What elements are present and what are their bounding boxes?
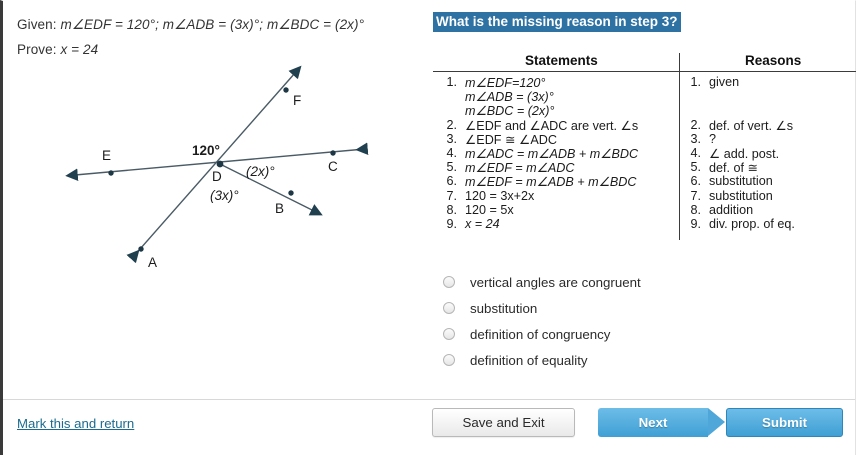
- table-row: 2. ∠EDF and ∠ADC are vert. ∠s 2. def. of…: [433, 118, 856, 132]
- option-vertical-angles[interactable]: vertical angles are congruent: [433, 269, 853, 295]
- proof-table-body: 1. m∠EDF=120° 1. given m∠ADB = (3x)° m∠B…: [433, 72, 856, 240]
- next-arrow-icon[interactable]: [708, 408, 725, 436]
- statement-text: 120 = 3x+2x: [465, 189, 534, 203]
- statement-text: ∠EDF and ∠ADC are vert. ∠s: [465, 118, 638, 133]
- statement-number: 2.: [441, 118, 457, 132]
- question-panel: What is the missing reason in step 3? St…: [431, 1, 856, 400]
- proof-table: Statements Reasons 1. m∠EDF=120° 1. give…: [433, 53, 856, 240]
- table-row: 3. ∠EDF ≅ ∠ADC 3. ?: [433, 132, 856, 146]
- reason-text-missing: ?: [709, 132, 716, 146]
- label-e: E: [102, 148, 111, 163]
- statement-text: m∠ADC = m∠ADB + m∠BDC: [465, 146, 638, 161]
- table-row: 9. x = 24 9. div. prop. of eq.: [433, 217, 856, 231]
- statement-number: 9.: [441, 217, 457, 231]
- angle-label-2x: (2x)°: [246, 164, 275, 179]
- reason-number: 9.: [685, 217, 701, 231]
- table-row: 4. m∠ADC = m∠ADB + m∠BDC 4. ∠ add. post.: [433, 146, 856, 160]
- table-row: 5. m∠EDF = m∠ADC 5. def. of ≅: [433, 160, 856, 174]
- point-b: [288, 190, 293, 195]
- reason-number: 1.: [685, 75, 701, 89]
- statement-number: 1.: [441, 75, 457, 89]
- angle-label-3x: (3x)°: [210, 188, 239, 203]
- geometry-diagram-svg: E C F A B D 120° (2x)° (3x)°: [3, 59, 431, 299]
- point-d: [217, 161, 224, 168]
- angle-label-120: 120°: [192, 143, 220, 158]
- reason-number: 2.: [685, 118, 701, 132]
- geometry-figure: E C F A B D 120° (2x)° (3x)°: [3, 59, 431, 299]
- reason-number: 4.: [685, 146, 701, 160]
- statement-text: x = 24: [465, 217, 500, 231]
- question-title: What is the missing reason in step 3?: [433, 12, 681, 32]
- reason-text: def. of ≅: [709, 160, 758, 175]
- option-definition-of-congruency[interactable]: definition of congruency: [433, 321, 853, 347]
- reason-text: div. prop. of eq.: [709, 217, 795, 231]
- reason-text: def. of vert. ∠s: [709, 118, 793, 133]
- radio-button-icon[interactable]: [443, 354, 455, 366]
- statement-number: 8.: [441, 203, 457, 217]
- table-row: 8. 120 = 5x 8. addition: [433, 203, 856, 217]
- statement-number: 4.: [441, 146, 457, 160]
- given-body: m∠EDF = 120°; m∠ADB = (3x)°; m∠BDC = (2x…: [60, 17, 364, 32]
- radio-button-icon[interactable]: [443, 328, 455, 340]
- table-row: m∠ADB = (3x)°: [433, 89, 856, 103]
- statement-number: 7.: [441, 189, 457, 203]
- option-substitution[interactable]: substitution: [433, 295, 853, 321]
- quiz-window: Given: m∠EDF = 120°; m∠ADB = (3x)°; m∠BD…: [0, 0, 856, 455]
- label-a: A: [148, 255, 157, 270]
- statement-number: 3.: [441, 132, 457, 146]
- mark-this-and-return-link[interactable]: Mark this and return: [17, 416, 134, 431]
- statement-number: 6.: [441, 174, 457, 188]
- statement-text: m∠ADB = (3x)°: [465, 89, 554, 104]
- table-row: 7. 120 = 3x+2x 7. substitution: [433, 189, 856, 203]
- answer-options: vertical angles are congruent substituti…: [433, 269, 853, 373]
- prove-prefix: Prove:: [17, 42, 57, 57]
- option-label: definition of equality: [470, 353, 588, 368]
- table-row: 1. m∠EDF=120° 1. given: [433, 75, 856, 89]
- reason-number: 5.: [685, 160, 701, 174]
- statement-number: 5.: [441, 160, 457, 174]
- reason-text: addition: [709, 203, 753, 217]
- reason-text: given: [709, 75, 739, 89]
- option-label: definition of congruency: [470, 327, 610, 342]
- next-button[interactable]: Next: [598, 408, 708, 437]
- header-statements: Statements: [525, 53, 598, 68]
- save-and-exit-button[interactable]: Save and Exit: [432, 408, 575, 437]
- statement-text: m∠EDF = m∠ADC: [465, 160, 574, 175]
- table-row: 6. m∠EDF = m∠ADB + m∠BDC 6. substitution: [433, 174, 856, 188]
- label-c: C: [328, 159, 338, 174]
- point-f: [283, 87, 288, 92]
- given-statement: Given: m∠EDF = 120°; m∠ADB = (3x)°; m∠BD…: [17, 17, 364, 33]
- option-label: substitution: [470, 301, 537, 316]
- footer-bar: Mark this and return Save and Exit Next …: [3, 399, 855, 455]
- submit-button[interactable]: Submit: [726, 408, 843, 437]
- label-d: D: [212, 169, 222, 184]
- reason-number: 8.: [685, 203, 701, 217]
- statement-text: m∠BDC = (2x)°: [465, 103, 554, 118]
- proof-table-header: Statements Reasons: [433, 53, 856, 72]
- statement-text: 120 = 5x: [465, 203, 514, 217]
- prove-body: x = 24: [60, 42, 98, 57]
- statement-text: m∠EDF=120°: [465, 75, 545, 90]
- content-area: Given: m∠EDF = 120°; m∠ADB = (3x)°; m∠BD…: [3, 1, 855, 400]
- label-f: F: [293, 93, 301, 108]
- reason-text: ∠ add. post.: [709, 146, 779, 161]
- label-b: B: [275, 201, 284, 216]
- radio-button-icon[interactable]: [443, 302, 455, 314]
- prove-statement: Prove: x = 24: [17, 42, 98, 57]
- radio-button-icon[interactable]: [443, 276, 455, 288]
- reason-number: 3.: [685, 132, 701, 146]
- option-definition-of-equality[interactable]: definition of equality: [433, 347, 853, 373]
- option-label: vertical angles are congruent: [470, 275, 641, 290]
- reason-text: substitution: [709, 189, 773, 203]
- point-c: [330, 150, 335, 155]
- statement-text: m∠EDF = m∠ADB + m∠BDC: [465, 174, 637, 189]
- statement-text: ∠EDF ≅ ∠ADC: [465, 132, 557, 147]
- point-a: [138, 246, 143, 251]
- reason-number: 6.: [685, 174, 701, 188]
- header-reasons: Reasons: [745, 53, 801, 68]
- table-row: m∠BDC = (2x)°: [433, 103, 856, 117]
- problem-panel: Given: m∠EDF = 120°; m∠ADB = (3x)°; m∠BD…: [3, 1, 431, 400]
- point-e: [108, 170, 113, 175]
- reason-number: 7.: [685, 189, 701, 203]
- reason-text: substitution: [709, 174, 773, 188]
- given-prefix: Given:: [17, 17, 57, 32]
